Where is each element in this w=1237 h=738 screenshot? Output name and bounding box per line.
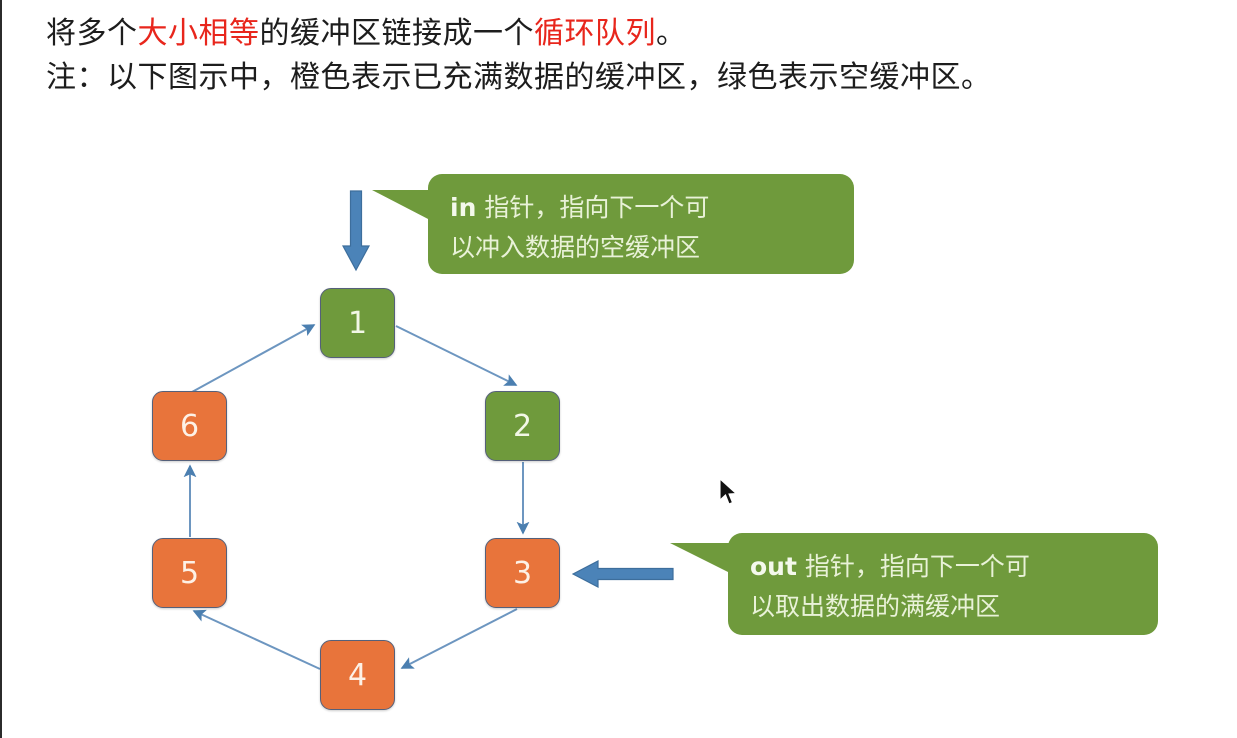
- edge-1-to-2: [396, 326, 516, 385]
- out-callout-line-2: 以取出数据的满缓冲区: [750, 587, 1138, 627]
- buffer-node-5-label: 5: [180, 556, 199, 591]
- edge-3-to-4: [402, 609, 517, 668]
- in-pointer-arrow-icon: [342, 190, 370, 272]
- buffer-node-5[interactable]: 5: [152, 538, 227, 608]
- edge-6-to-1: [192, 325, 314, 392]
- buffer-node-6[interactable]: 6: [152, 391, 227, 461]
- edge-4-to-5: [194, 611, 320, 669]
- out-callout-line-1: out 指针，指向下一个可: [750, 547, 1138, 587]
- out-pointer-arrow-icon: [572, 560, 674, 588]
- out-pointer-callout[interactable]: out 指针，指向下一个可 以取出数据的满缓冲区: [728, 533, 1158, 635]
- in-callout-tail: [372, 190, 430, 220]
- buffer-node-2[interactable]: 2: [485, 391, 560, 461]
- buffer-node-4-label: 4: [348, 658, 367, 693]
- buffer-node-1[interactable]: 1: [320, 288, 395, 358]
- buffer-node-2-label: 2: [513, 409, 532, 444]
- buffer-node-3[interactable]: 3: [485, 538, 560, 608]
- in-callout-line-2: 以冲入数据的空缓冲区: [450, 228, 834, 268]
- buffer-node-6-label: 6: [180, 409, 199, 444]
- slide-canvas: 将多个大小相等的缓冲区链接成一个循环队列。 注：以下图示中，橙色表示已充满数据的…: [0, 0, 1237, 738]
- mouse-cursor-icon: [718, 478, 738, 508]
- buffer-node-1-label: 1: [348, 306, 367, 341]
- in-callout-line-1: in 指针，指向下一个可: [450, 188, 834, 228]
- in-pointer-callout[interactable]: in 指针，指向下一个可 以冲入数据的空缓冲区: [428, 174, 854, 274]
- buffer-node-3-label: 3: [513, 556, 532, 591]
- out-callout-tail: [670, 543, 730, 573]
- circular-buffer-diagram: 1 2 3 4 5 6 in 指针，指向下一个可 以冲入数据的空缓冲区: [2, 0, 1237, 738]
- buffer-node-4[interactable]: 4: [320, 640, 395, 710]
